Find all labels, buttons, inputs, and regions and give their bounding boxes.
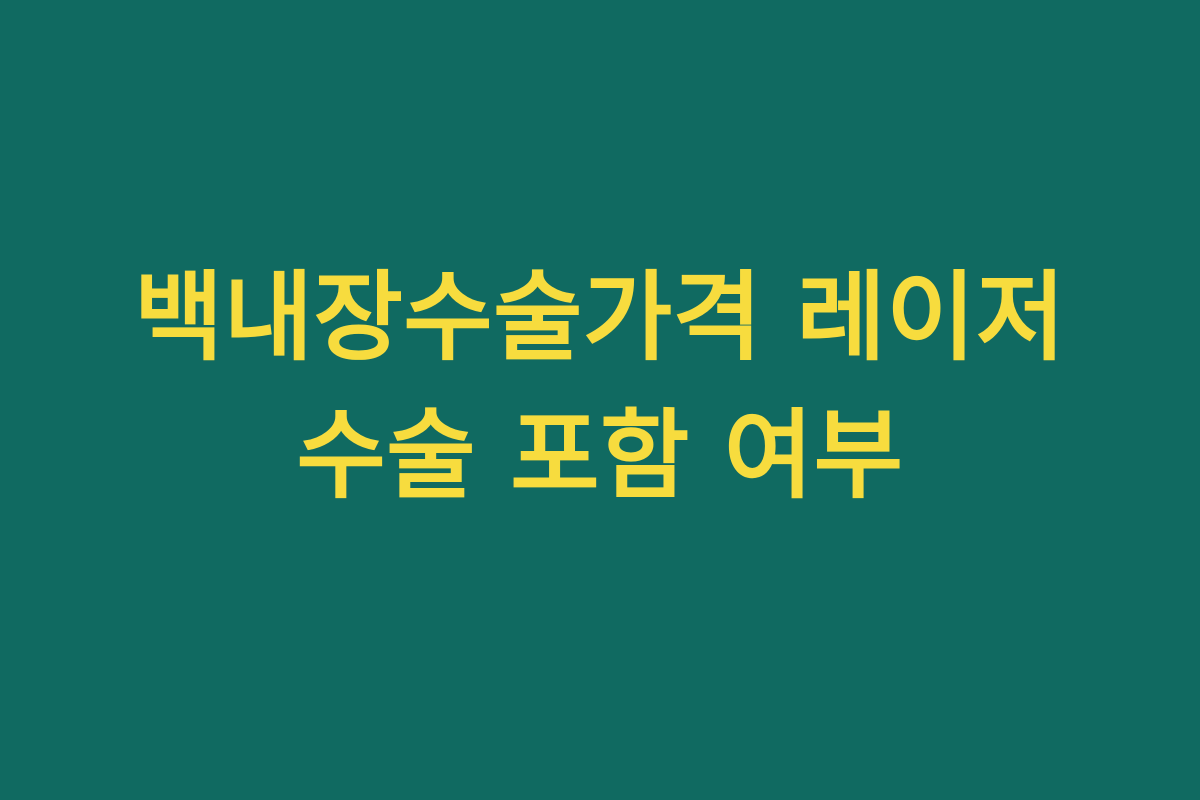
headline-block: 백내장수술가격 레이저 수술 포함 여부	[0, 249, 1200, 524]
headline-line-1: 백내장수술가격 레이저	[0, 249, 1200, 387]
thumbnail-banner: 백내장수술가격 레이저 수술 포함 여부	[0, 0, 1200, 800]
headline-line-2: 수술 포함 여부	[0, 387, 1200, 525]
